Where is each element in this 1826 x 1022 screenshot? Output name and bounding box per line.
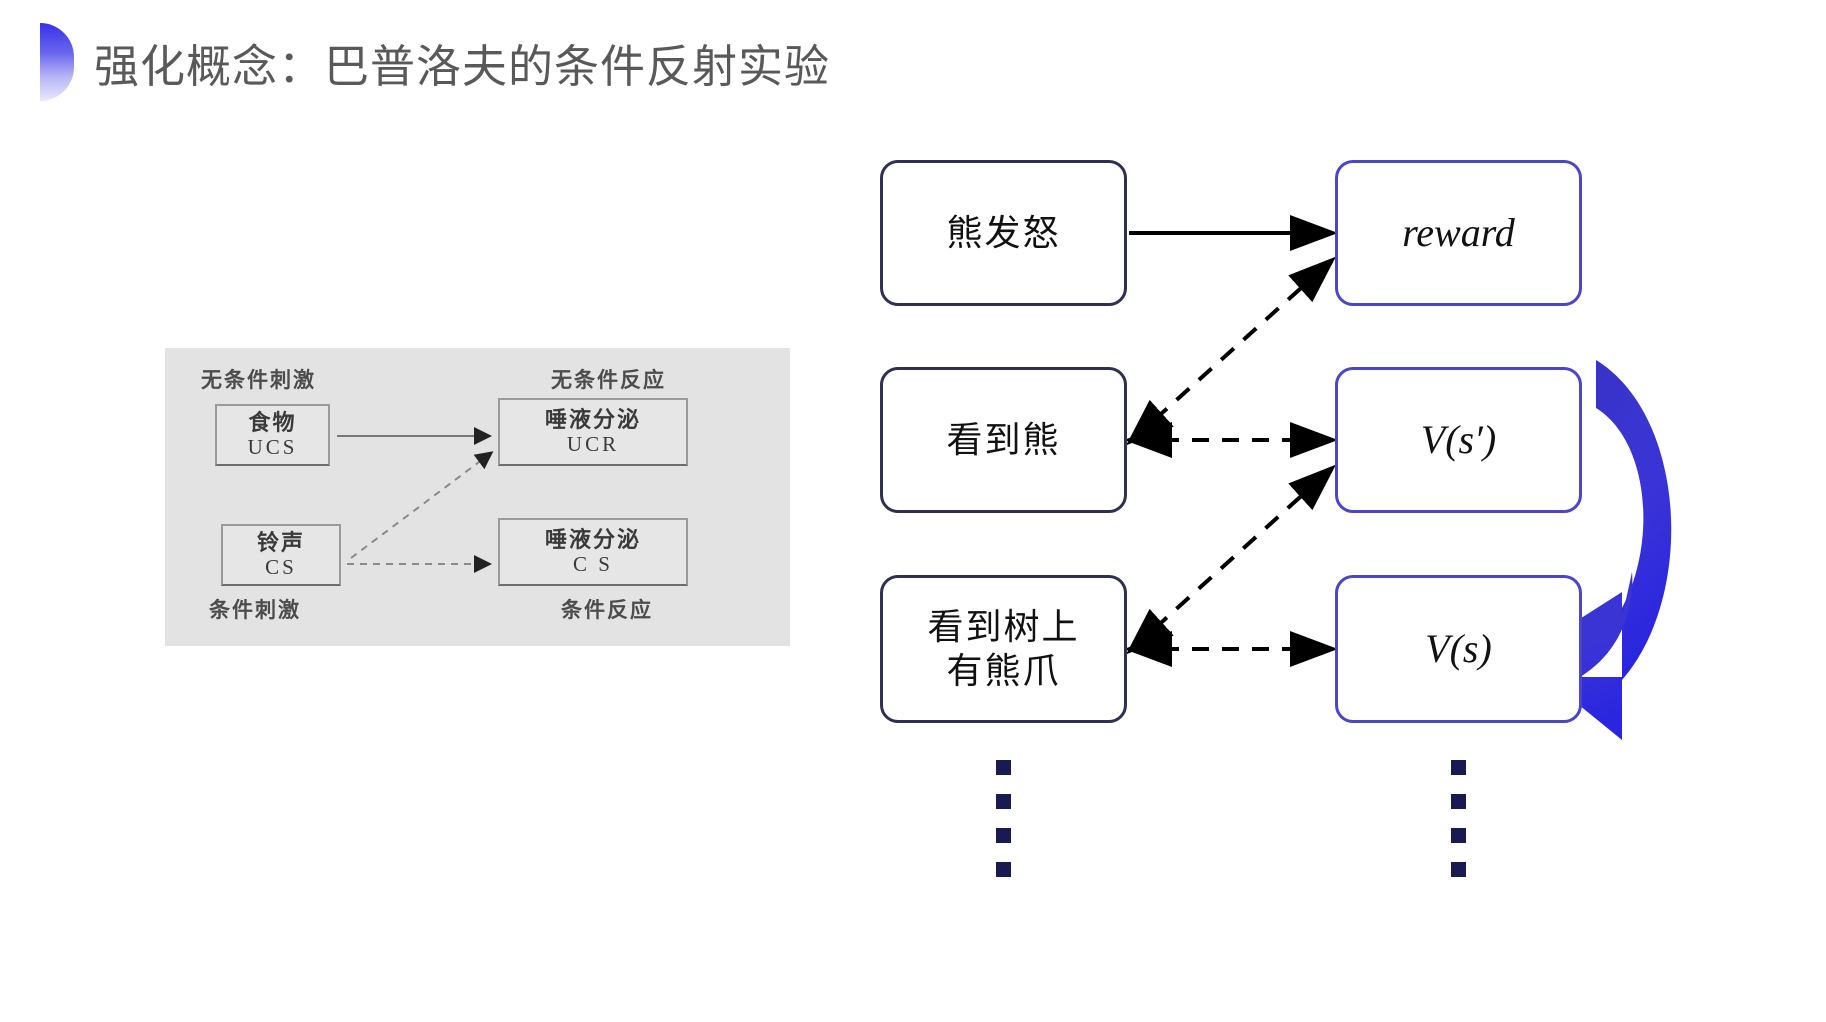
ellipsis-dots-right-column [1451,760,1466,877]
pavlov-arrow-bell-to-ucr [351,456,487,558]
node-see-bear-label: 看到熊 [946,418,1060,462]
node-see-bear[interactable]: 看到熊 [880,367,1127,513]
edge-see-paw-to-vsprime [1132,470,1330,649]
node-bear-angry[interactable]: 熊发怒 [880,160,1127,306]
node-see-bear-paw-line2: 有熊爪 [946,650,1060,691]
half-circle-bullet-icon [40,23,74,101]
ellipsis-dots-left-column [996,760,1011,877]
edge-see-bear-to-reward [1132,262,1330,440]
node-reward-label: reward [1402,209,1515,258]
ellipsis-dot [996,760,1011,775]
node-bear-angry-label: 熊发怒 [946,211,1060,255]
node-value-s[interactable]: V(s) [1335,575,1582,723]
pavlov-conditioning-figure: 无条件刺激 无条件反应 条件刺激 条件反应 食物 UCS 唾液分泌 UCR 铃声… [165,348,790,646]
ellipsis-dot [1451,828,1466,843]
ellipsis-dot [996,828,1011,843]
node-value-s-label: V(s) [1425,625,1492,674]
node-see-bear-paw-label: 看到树上 有熊爪 [927,605,1079,693]
node-see-bear-paw-line1: 看到树上 [927,606,1079,647]
pavlov-arrows [165,348,790,646]
node-see-bear-paw[interactable]: 看到树上 有熊爪 [880,575,1127,723]
node-value-s-prime-label: V(s′) [1421,416,1496,465]
node-value-s-prime[interactable]: V(s′) [1335,367,1582,513]
ellipsis-dot [996,862,1011,877]
rl-value-propagation-diagram: 熊发怒 看到熊 看到树上 有熊爪 reward V(s′) V(s) [880,140,1670,930]
slide-title-row: 强化概念：巴普洛夫的条件反射实验 [40,22,830,102]
slide-canvas: 强化概念：巴普洛夫的条件反射实验 无条件刺激 无条件反应 条件刺激 条件反应 食… [0,0,1826,1022]
node-reward[interactable]: reward [1335,160,1582,306]
ellipsis-dot [1451,760,1466,775]
page-title: 强化概念：巴普洛夫的条件反射实验 [94,30,830,95]
ellipsis-dot [996,794,1011,809]
ellipsis-dot [1451,862,1466,877]
ellipsis-dot [1451,794,1466,809]
